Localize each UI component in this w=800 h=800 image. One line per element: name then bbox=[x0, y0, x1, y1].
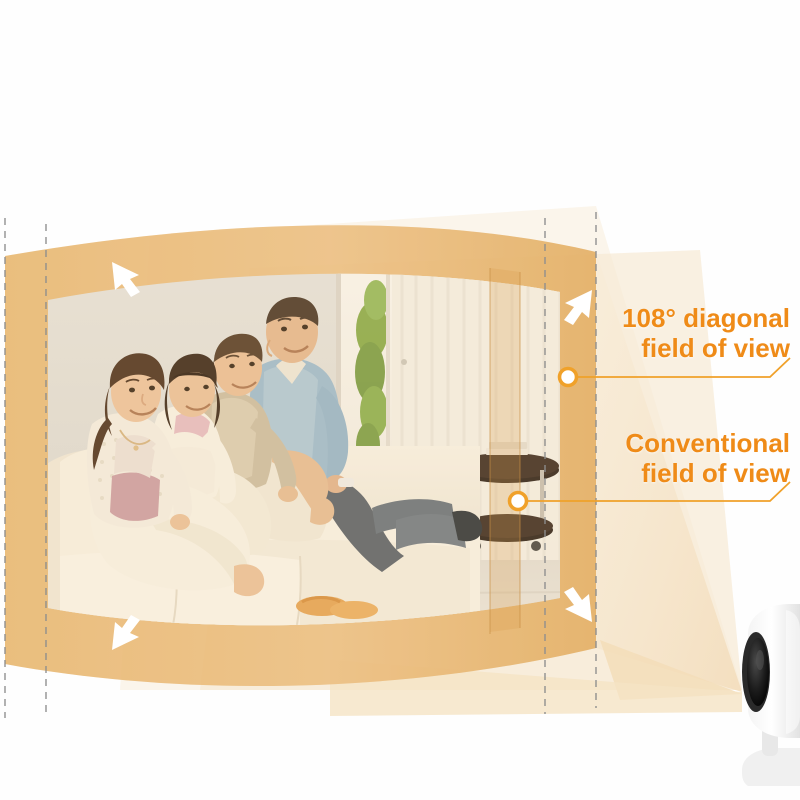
conventional-fov-marker bbox=[510, 493, 527, 510]
marketing-graphic: Wide Viewing Angle bbox=[0, 0, 800, 800]
callout-wide-line2: field of view bbox=[622, 333, 790, 363]
scene-illustration bbox=[0, 0, 800, 800]
callout-conventional-line1: Conventional bbox=[625, 428, 790, 458]
callout-conventional-fov: Conventional field of view bbox=[625, 428, 790, 488]
wide-fov-marker bbox=[560, 369, 577, 386]
callout-wide-line1: 108° diagonal bbox=[622, 303, 790, 333]
conventional-fov-boundary bbox=[490, 268, 520, 634]
ip-camera bbox=[742, 604, 800, 786]
callout-conventional-line2: field of view bbox=[625, 458, 790, 488]
callout-wide-fov: 108° diagonal field of view bbox=[622, 303, 790, 363]
